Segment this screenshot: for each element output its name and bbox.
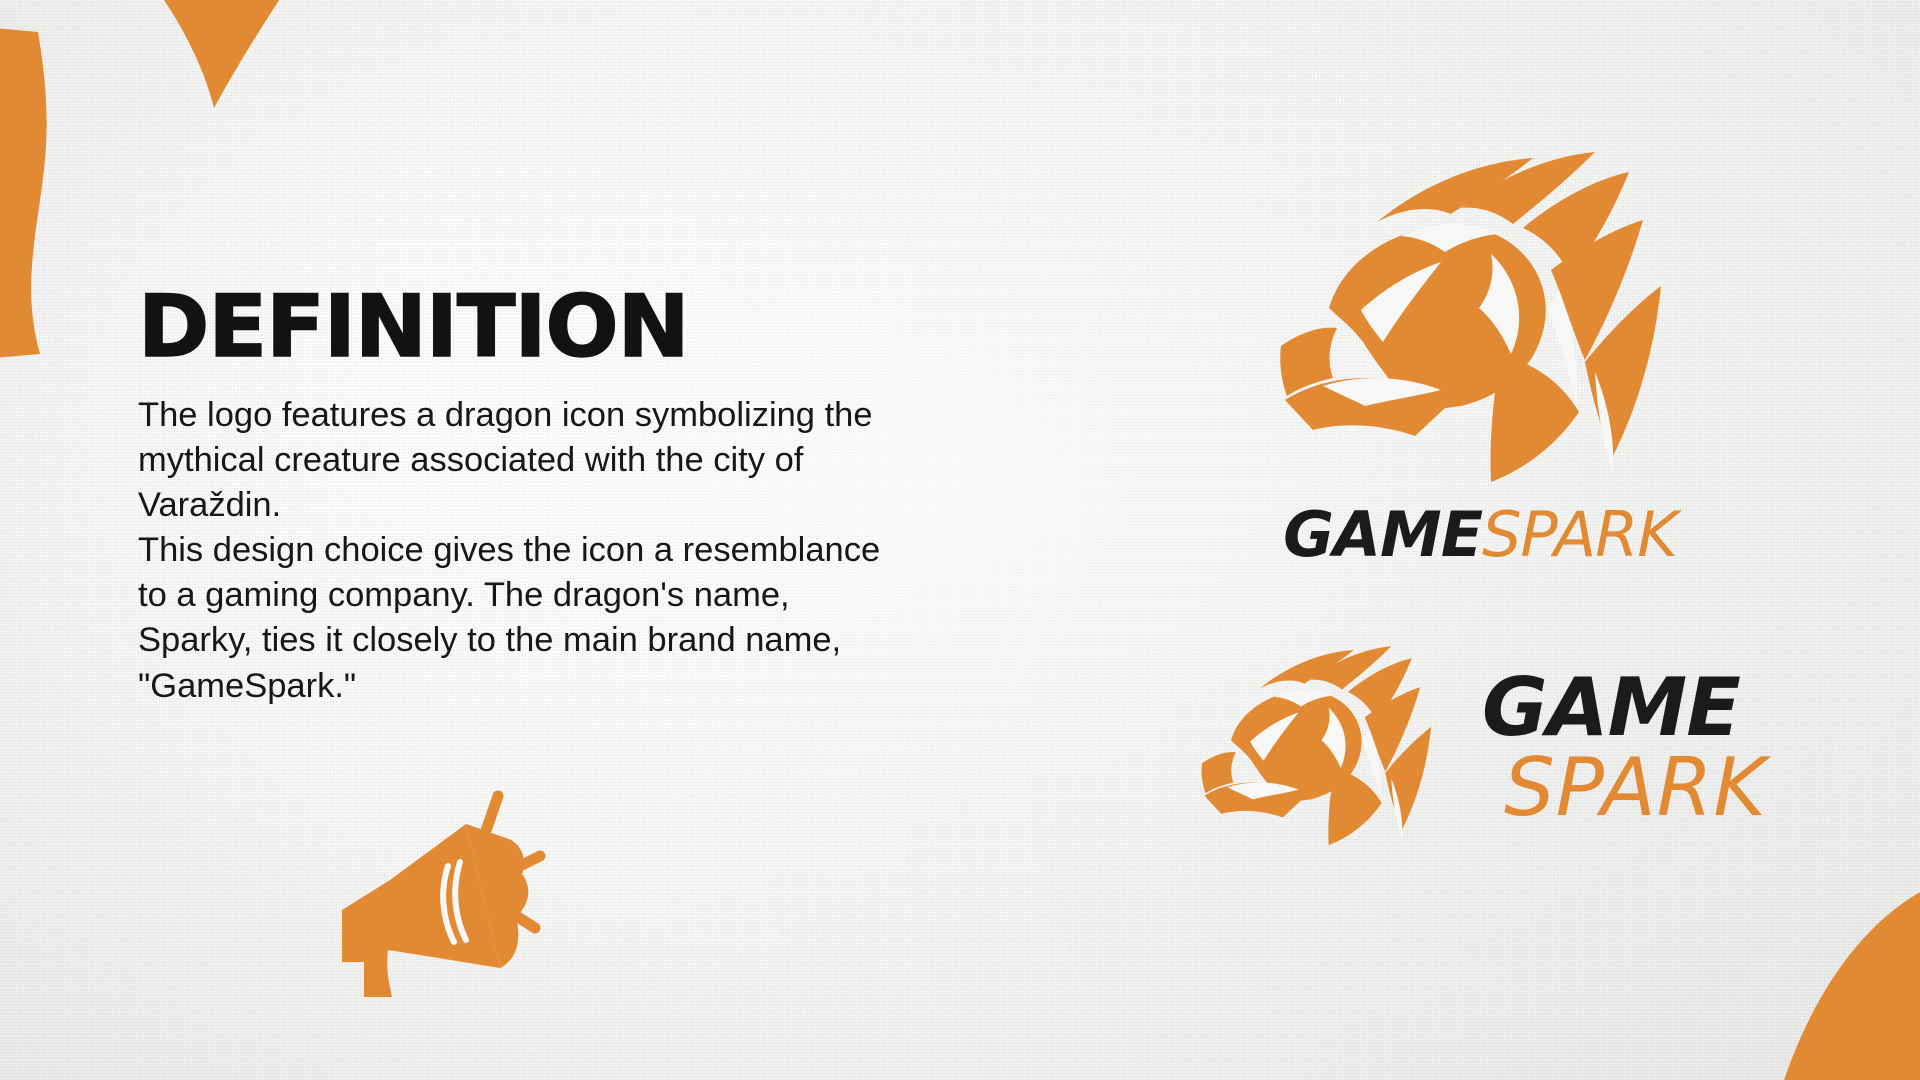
logo-lockup-vertical: GAME SPARK: [1170, 150, 1790, 571]
left-crescent-shape: [0, 28, 74, 358]
logo-showcase: GAME SPARK: [1170, 150, 1790, 850]
wordmark-game-text: GAME: [1283, 498, 1482, 571]
bottom-right-arc-shape: [1660, 880, 1920, 1080]
page-title: DEFINITION: [138, 286, 1078, 369]
slide-canvas: DEFINITION The logo features a dragon ic…: [0, 0, 1920, 1080]
logo-lockup-horizontal: GAME SPARK: [1192, 645, 1790, 850]
definition-body-text: The logo features a dragon icon symboliz…: [138, 393, 1068, 709]
dragon-head-icon: [1265, 150, 1695, 490]
dragon-head-icon: [1192, 645, 1452, 850]
top-spike-shape: [118, 0, 298, 110]
wordmark-spark-text: SPARK: [1504, 750, 1767, 825]
wordmark-gamespark: GAME SPARK: [1283, 498, 1677, 571]
megaphone-icon: [330, 782, 560, 997]
wordmark-game-text: GAME: [1482, 670, 1767, 745]
wordmark-spark-text: SPARK: [1482, 498, 1677, 571]
definition-content-block: DEFINITION The logo features a dragon ic…: [138, 286, 1078, 709]
wordmark-gamespark-stacked: GAME SPARK: [1482, 670, 1767, 824]
